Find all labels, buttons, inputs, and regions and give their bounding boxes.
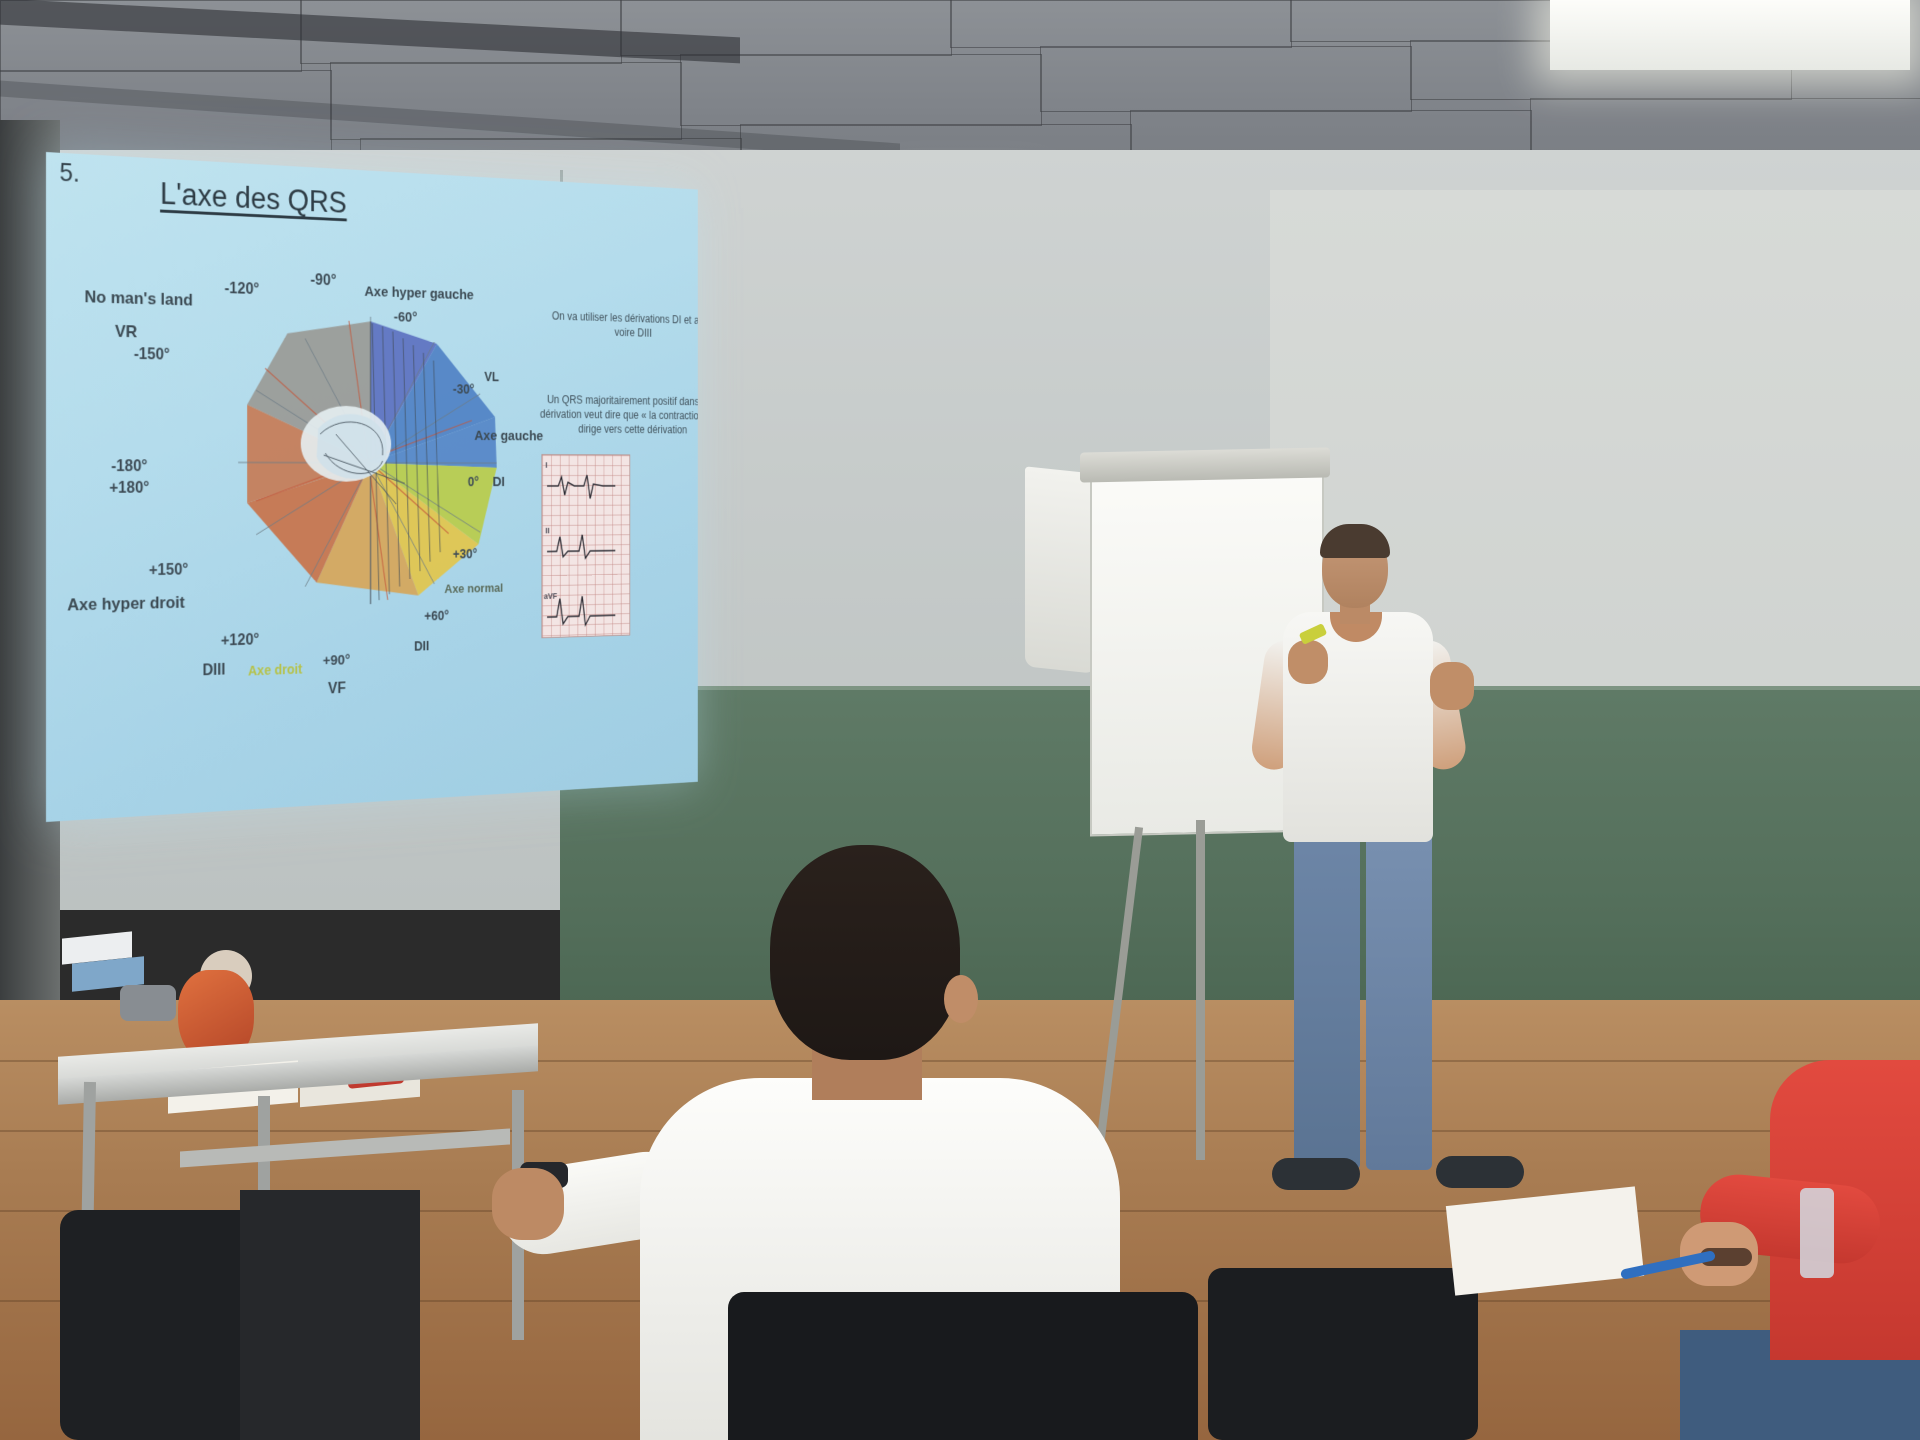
degree-label-minus180: -180° [111, 458, 147, 476]
ceiling-tile [950, 0, 1292, 48]
lead-label-vr: VR [115, 322, 137, 342]
lead-label-vl: VL [484, 369, 499, 384]
flipchart-cloth [1025, 466, 1095, 673]
slide-number: 5. [60, 159, 80, 189]
degree-label-minus150: -150° [134, 346, 170, 364]
degree-label-minus120: -120° [224, 280, 259, 299]
lead-label-dii: DII [414, 638, 429, 653]
region-label-axe-hyper-droit: Axe hyper droit [67, 593, 185, 615]
region-label-axe-normal: Axe normal [444, 581, 503, 596]
degree-label-plus150: +150° [149, 562, 188, 580]
degree-label-minus60: -60° [394, 309, 418, 326]
degree-label-plus60: +60° [424, 608, 449, 624]
chair-center [728, 1292, 1198, 1440]
ecg-traces [542, 455, 629, 637]
chair-left [240, 1190, 420, 1440]
region-label-no-mans-land: No man's land [85, 287, 193, 310]
lead-label-diii: DIII [203, 662, 226, 680]
ecg-strip: I II aVF [541, 454, 630, 638]
degree-label-plus30: +30° [453, 546, 477, 561]
degree-label-plus180: +180° [109, 480, 149, 498]
presenter-leg-left [1294, 830, 1360, 1170]
ceiling-tile [1530, 98, 1920, 152]
water-bottle [1800, 1188, 1834, 1278]
note-bottom: Un QRS majoritairement positif dans une … [532, 392, 698, 438]
student-hand [492, 1168, 564, 1240]
slide-title: L'axe des QRS [160, 176, 347, 220]
note-top: On va utiliser les dérivations DI et aVF… [538, 308, 698, 343]
projected-slide: 5. L'axe des QRS [46, 152, 698, 822]
region-label-axe-droit: Axe droit [248, 661, 302, 678]
degree-label-plus120: +120° [221, 632, 259, 651]
presenter-hand-left [1288, 640, 1328, 684]
presenter-shoe-right [1436, 1156, 1524, 1188]
ceiling-light [1550, 0, 1910, 70]
presenter-leg-right [1366, 830, 1432, 1170]
chair-right [1208, 1268, 1478, 1440]
student-ear [944, 975, 978, 1023]
student-head [770, 845, 960, 1060]
presenter-hand-right [1430, 662, 1474, 710]
flipchart-paper-roll [1080, 447, 1330, 482]
lead-label-di: DI [493, 474, 505, 490]
presenter-shoe-left [1272, 1158, 1360, 1190]
flipchart-leg [1196, 820, 1205, 1160]
degree-label-zero: 0° [468, 474, 479, 489]
lead-label-vf: VF [328, 680, 346, 698]
table-item-gray [120, 985, 176, 1021]
degree-label-plus90: +90° [323, 652, 350, 669]
classroom-photo: 5. L'axe des QRS [0, 0, 1920, 1440]
ceiling-tile [1040, 46, 1412, 112]
ceiling-tile [680, 54, 1042, 126]
degree-label-minus90: -90° [310, 272, 336, 290]
degree-label-minus30: -30° [453, 381, 474, 396]
